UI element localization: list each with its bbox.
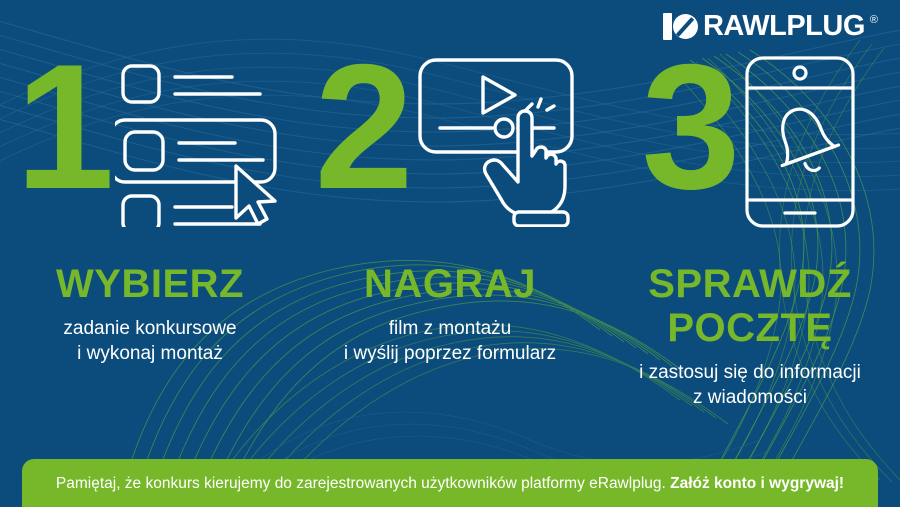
step-1-description: zadanie konkursowe i wykonaj montaż bbox=[10, 316, 290, 366]
step-2-icon-slot bbox=[414, 52, 586, 227]
step-1-description-line-2: i wykonaj montaż bbox=[10, 341, 290, 366]
step-2-numeral: 2 bbox=[315, 52, 414, 202]
rawlplug-screw-mark-icon bbox=[663, 13, 698, 40]
step-3-caption: SPRAWDŹ POCZTĘ i zastosuj się do informa… bbox=[600, 262, 900, 410]
step-2-caption: NAGRAJ film z montażu i wyślij poprzez f… bbox=[300, 262, 600, 410]
step-3-header: 3 bbox=[600, 52, 900, 242]
step-1-title: WYBIERZ bbox=[10, 262, 290, 306]
logo-bar-shape bbox=[663, 13, 672, 40]
step-2-description: film z montażu i wyślij poprzez formular… bbox=[310, 316, 590, 366]
footer-message-regular: Pamiętaj, że konkurs kierujemy do zareje… bbox=[56, 475, 670, 492]
step-3-title-line-1: SPRAWDŹ bbox=[610, 262, 890, 306]
phone-notification-bell-icon bbox=[741, 52, 859, 232]
steps-caption-row: WYBIERZ zadanie konkursowe i wykonaj mon… bbox=[0, 262, 900, 410]
step-1-description-line-1: zadanie konkursowe bbox=[10, 316, 290, 341]
video-tap-hand-icon bbox=[414, 52, 586, 227]
rawlplug-logo: RAWLPLUG ® bbox=[663, 13, 878, 40]
step-3-numeral: 3 bbox=[642, 52, 741, 202]
logo-slashed-circle-shape bbox=[673, 14, 698, 39]
infographic-canvas: RAWLPLUG ® 1 bbox=[0, 0, 900, 507]
step-1-header: 1 bbox=[0, 52, 300, 242]
step-1-caption: WYBIERZ zadanie konkursowe i wykonaj mon… bbox=[0, 262, 300, 410]
steps-icon-row: 1 bbox=[0, 52, 900, 242]
cursor-arrow-icon bbox=[236, 166, 275, 224]
step-1-numeral: 1 bbox=[16, 52, 115, 202]
step-2-title: NAGRAJ bbox=[310, 262, 590, 306]
footer-banner: Pamiętaj, że konkurs kierujemy do zareje… bbox=[22, 459, 878, 507]
step-3-title: SPRAWDŹ POCZTĘ bbox=[610, 262, 890, 350]
step-1-icon-slot bbox=[115, 52, 285, 227]
checklist-select-icon bbox=[115, 52, 285, 227]
step-3-description-line-2: z wiadomości bbox=[610, 385, 890, 410]
step-2-description-line-1: film z montażu bbox=[310, 316, 590, 341]
step-3-description: i zastosuj się do informacji z wiadomośc… bbox=[610, 360, 890, 410]
step-3-title-line-2: POCZTĘ bbox=[610, 306, 890, 350]
step-3-icon-slot bbox=[741, 52, 859, 232]
footer-message-highlight: Załóż konto i wygrywaj! bbox=[670, 475, 844, 492]
footer-message: Pamiętaj, że konkurs kierujemy do zareje… bbox=[56, 475, 844, 493]
registered-trademark-symbol: ® bbox=[870, 14, 878, 26]
step-2-description-line-2: i wyślij poprzez formularz bbox=[310, 341, 590, 366]
step-2-header: 2 bbox=[300, 52, 600, 242]
logo-wordmark: RAWLPLUG bbox=[703, 13, 865, 40]
step-3-description-line-1: i zastosuj się do informacji bbox=[610, 360, 890, 385]
